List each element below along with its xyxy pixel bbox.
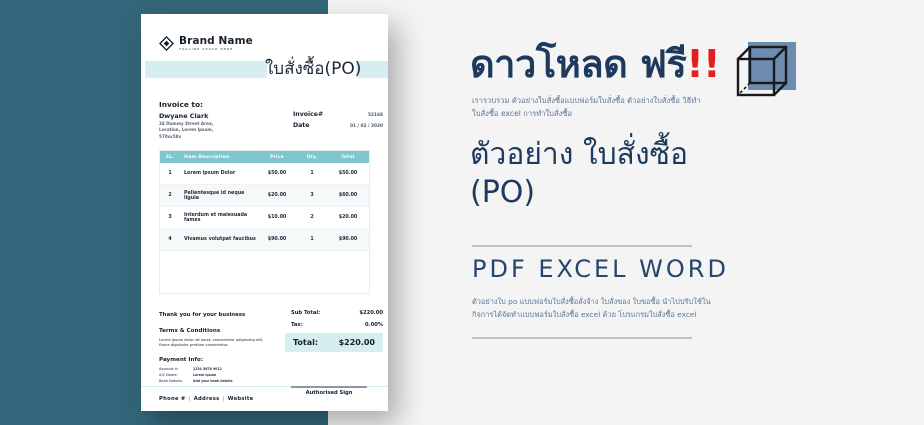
totals-row: Sub Total: $220.00: [291, 310, 383, 316]
authorised-sign-label: Authorised Sign: [291, 390, 367, 396]
table-row: 3 Interdum et malesuada fames $10.00 2 $…: [160, 207, 369, 229]
payment-row: Account #: 1234 5678 9012: [159, 367, 274, 371]
totals-block: Sub Total: $220.00 Tax: 0.00%: [291, 310, 383, 334]
cell-sl: 1: [160, 171, 180, 176]
wireframe-cube-icon: [730, 29, 802, 101]
cell-qty: 1: [297, 171, 327, 176]
cell-total: $20.00: [327, 215, 369, 220]
promo-exclamation: !!: [686, 42, 720, 86]
payment-value: Lorem ipsum: [193, 373, 216, 377]
signature-line: [291, 386, 367, 388]
col-header-total: Total: [327, 155, 369, 160]
table-row: 1 Lorem ipsum Dolor $50.00 1 $50.00: [160, 163, 369, 185]
col-header-sl: SL.: [160, 155, 180, 160]
cell-price: $20.00: [257, 193, 297, 198]
footer-separator: |: [220, 396, 228, 402]
col-header-qty: Qty.: [297, 155, 327, 160]
line-items-table: SL. Item Description Price Qty. Total 1 …: [159, 150, 370, 294]
payment-key: Account #:: [159, 367, 193, 371]
cell-qty: 3: [297, 193, 327, 198]
meta-key: Date: [293, 122, 309, 129]
cell-price: $50.00: [257, 171, 297, 176]
cell-price: $90.00: [257, 237, 297, 242]
terms-heading: Terms & Conditions: [159, 328, 220, 334]
promo-footnote: ตัวอย่างใบ po แบบฟอร์มใบสั่งซื้อสั่งจ้าง…: [472, 295, 722, 322]
bill-to-name: Dwyane Clark: [159, 112, 208, 120]
cell-sl: 4: [160, 237, 180, 242]
table-row: 4 Vivamus volutpat faucibus $90.00 1 $90…: [160, 229, 369, 251]
promo-divider-bottom: [472, 337, 692, 339]
diamond-logo-icon: [159, 36, 174, 51]
promo-subtext: เรารวบรวม ตัวอย่างใบสั่งซื้อแบบฟอร์มใบสั…: [472, 94, 717, 121]
brand-name: Brand Name: [179, 36, 253, 47]
promo-divider-top: [472, 245, 692, 247]
cell-total: $90.00: [327, 237, 369, 242]
invoice-meta: Invoice# 52168 Date 01 / 02 / 2020: [293, 111, 383, 132]
invoice-document[interactable]: Brand Name TAGLINE SPACE HERE ใบสั่งซื้อ…: [141, 14, 388, 411]
payment-key: Bank Details:: [159, 379, 193, 383]
cube-graphic: [730, 29, 802, 101]
payment-row: Bank Details: Add your bank details: [159, 379, 274, 383]
poster-canvas: Brand Name TAGLINE SPACE HERE ใบสั่งซื้อ…: [0, 0, 924, 425]
cell-price: $10.00: [257, 215, 297, 220]
payment-value: Add your bank details: [193, 379, 233, 383]
meta-value: 52168: [368, 113, 383, 118]
promo-title-line1: ตัวอย่าง ใบสั่งซื้อ: [470, 136, 770, 174]
grand-total-box: Total: $220.00: [285, 333, 383, 352]
subtotal-label: Sub Total:: [291, 310, 320, 316]
cell-sl: 2: [160, 193, 180, 198]
cell-desc: Vivamus volutpat faucibus: [180, 237, 257, 242]
meta-value: 01 / 02 / 2020: [350, 124, 383, 129]
payment-value: 1234 5678 9012: [193, 367, 222, 371]
tax-value: 0.00%: [365, 322, 383, 328]
totals-row: Tax: 0.00%: [291, 322, 383, 328]
footer-website: Website: [228, 396, 254, 402]
cell-desc: Interdum et malesuada fames: [180, 213, 257, 223]
table-header-row: SL. Item Description Price Qty. Total: [160, 151, 369, 163]
cell-qty: 2: [297, 215, 327, 220]
cell-desc: Lorem ipsum Dolor: [180, 171, 257, 176]
promo-panel: ดาวโหลด ฟรี!! เรารวบรวม ตัวอย่างใบสั่งซื…: [470, 0, 924, 425]
payment-info-table: Account #: 1234 5678 9012 A/C Name: Lore…: [159, 367, 274, 386]
footer-separator: |: [186, 396, 194, 402]
bill-to-label: Invoice to:: [159, 100, 203, 109]
payment-row: A/C Name: Lorem ipsum: [159, 373, 274, 377]
promo-headline: ดาวโหลด ฟรี!!: [470, 33, 720, 94]
cell-total: $50.00: [327, 171, 369, 176]
promo-title: ตัวอย่าง ใบสั่งซื้อ (PO): [470, 136, 770, 213]
footer-address: Address: [194, 396, 220, 402]
cell-total: $60.00: [327, 193, 369, 198]
footer-phone: Phone #: [159, 396, 186, 402]
accent-band-left: [145, 61, 267, 78]
grand-total-label: Total:: [293, 338, 318, 347]
document-title: ใบสั่งซื้อ(PO): [265, 55, 385, 82]
payment-info-heading: Payment Info:: [159, 357, 203, 363]
promo-format-list: PDF EXCEL WORD: [472, 255, 729, 283]
promo-title-line2: (PO): [470, 174, 770, 212]
cell-desc: Pellentesque id neque ligula: [180, 191, 257, 201]
subtotal-value: $220.00: [359, 310, 383, 316]
tax-label: Tax:: [291, 322, 303, 328]
table-row: 2 Pellentesque id neque ligula $20.00 3 …: [160, 185, 369, 207]
meta-row: Invoice# 52168: [293, 111, 383, 118]
thank-you-note: Thank you for your business: [159, 312, 245, 318]
meta-key: Invoice#: [293, 111, 323, 118]
col-header-desc: Item Description: [180, 155, 257, 160]
table-empty-space: [160, 251, 369, 293]
footer-contact-bar: Phone #|Address|Website: [159, 396, 253, 402]
cell-qty: 1: [297, 237, 327, 242]
cell-sl: 3: [160, 215, 180, 220]
brand-block: Brand Name TAGLINE SPACE HERE: [159, 36, 253, 51]
bill-to-address: 34 Dummy Street Area, Location, Lorem Ip…: [159, 121, 254, 140]
brand-tagline: TAGLINE SPACE HERE: [179, 48, 253, 51]
payment-key: A/C Name:: [159, 373, 193, 377]
meta-row: Date 01 / 02 / 2020: [293, 122, 383, 129]
grand-total-value: $220.00: [339, 338, 375, 347]
promo-headline-text: ดาวโหลด ฟรี: [470, 42, 686, 86]
terms-body: Lorem ipsum dolor sit amet, consectetur …: [159, 338, 269, 349]
col-header-price: Price: [257, 155, 297, 160]
